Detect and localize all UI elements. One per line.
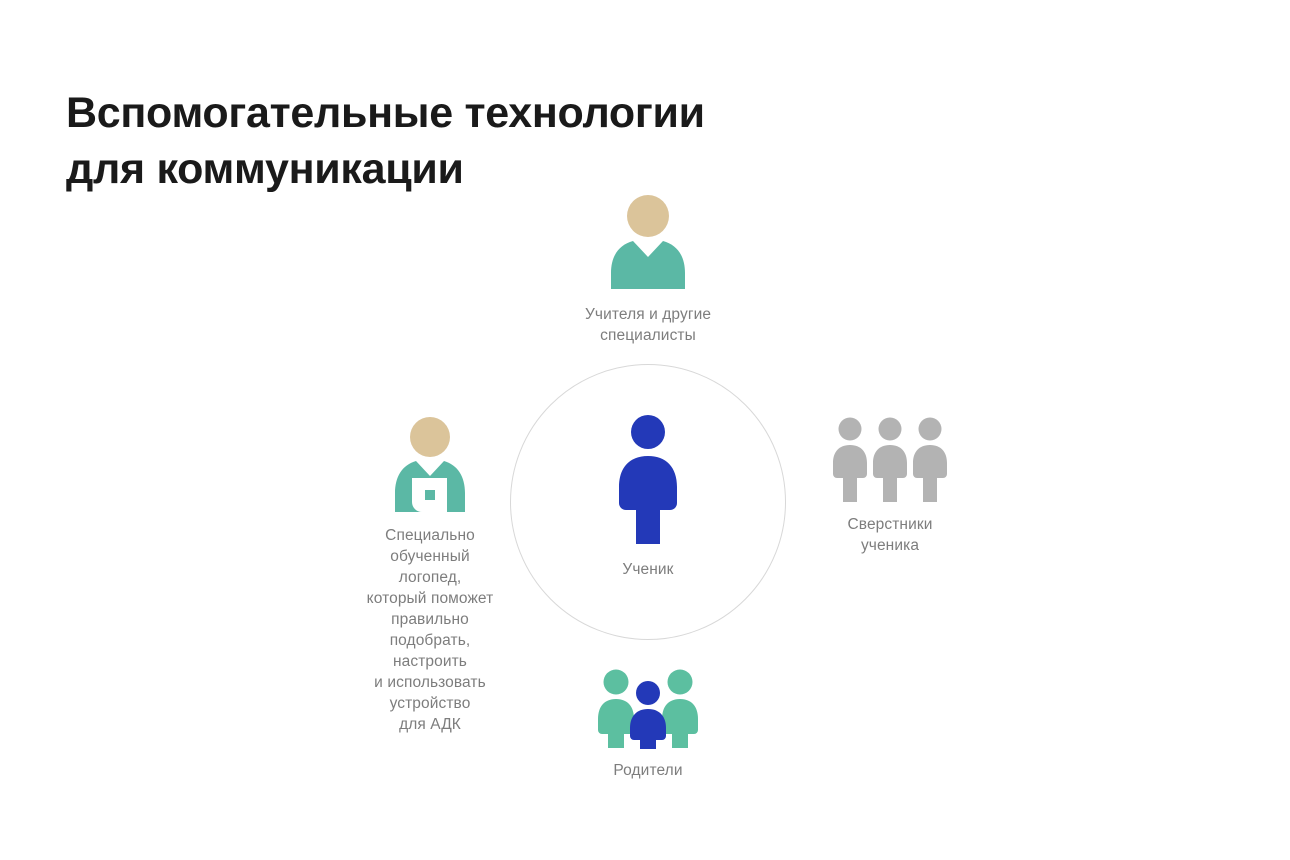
node-peers[interactable]: Сверстники ученика: [800, 416, 980, 556]
node-student-label: Ученик: [568, 559, 728, 580]
node-parents-label: Родители: [548, 760, 748, 781]
node-therapist-label: Специально обученный логопед, который по…: [335, 525, 525, 735]
node-peers-label: Сверстники ученика: [800, 514, 980, 556]
person-icon: [568, 414, 728, 547]
family-icon: [548, 668, 748, 750]
person-bust-icon: [548, 194, 748, 294]
node-parents[interactable]: Родители: [548, 668, 748, 781]
node-teachers-label: Учителя и другие специалисты: [548, 304, 748, 346]
speech-therapist-icon: [335, 416, 525, 516]
three-people-icon: [800, 416, 980, 504]
node-therapist[interactable]: Специально обученный логопед, который по…: [335, 416, 525, 735]
node-teachers[interactable]: Учителя и другие специалисты: [548, 194, 748, 346]
diagram-canvas: Учителя и другие специалисты Специально …: [0, 0, 1290, 860]
node-student[interactable]: Ученик: [568, 414, 728, 580]
